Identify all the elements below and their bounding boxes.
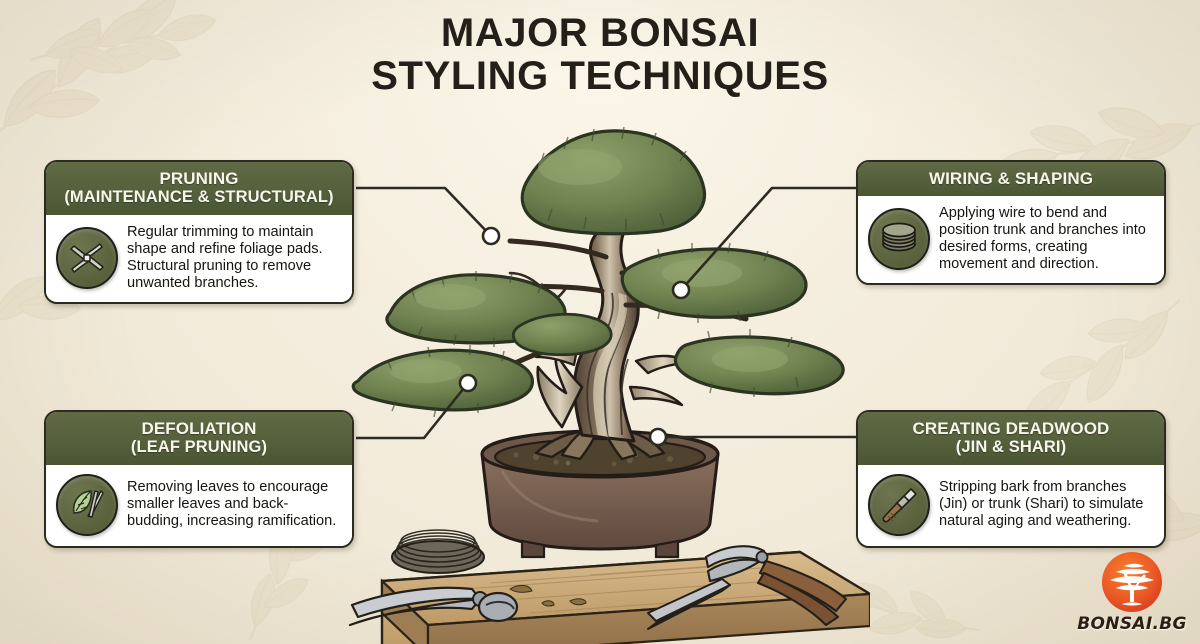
card-deadwood[interactable]: CREATING DEADWOOD (JIN & SHARI) Strippin… <box>856 410 1166 548</box>
card-defoliation[interactable]: DEFOLIATION (LEAF PRUNING) Removing lea <box>44 410 354 548</box>
infographic-canvas: MAJOR BONSAI STYLING TECHNIQUES <box>0 0 1200 644</box>
leaf-tweezers-icon <box>56 474 118 536</box>
card-pruning-text: Regular trimming to maintain shape and r… <box>127 224 342 292</box>
card-defoliation-header: DEFOLIATION (LEAF PRUNING) <box>46 412 352 465</box>
wiring-connector-line <box>681 188 856 290</box>
logo-text: BONSAI.BG <box>1076 614 1188 634</box>
card-wiring-title: WIRING & SHAPING <box>929 169 1093 188</box>
card-wiring-header: WIRING & SHAPING <box>858 162 1164 196</box>
defoliation-connector-dot <box>460 375 476 391</box>
defoliation-connector-line <box>356 383 468 438</box>
card-deadwood-text: Stripping bark from branches (Jin) or tr… <box>939 479 1154 530</box>
bonsai-bg-logo[interactable]: BONSAI.BG <box>1076 550 1188 636</box>
card-defoliation-body: Removing leaves to encourage smaller lea… <box>46 465 352 546</box>
card-wiring-body: Applying wire to bend and position trunk… <box>858 196 1164 283</box>
chisel-icon <box>868 474 930 536</box>
card-defoliation-subtitle: (LEAF PRUNING) <box>54 438 344 457</box>
card-pruning-subtitle: (MAINTENANCE & STRUCTURAL) <box>54 188 344 207</box>
pruning-connector-dot <box>483 228 499 244</box>
card-pruning[interactable]: PRUNING (MAINTENANCE & STRUCTURAL) Regul… <box>44 160 354 304</box>
card-wiring[interactable]: WIRING & SHAPING Applying wire to bend a… <box>856 160 1166 285</box>
card-deadwood-title: CREATING DEADWOOD <box>913 419 1110 438</box>
pruning-connector-line <box>356 188 491 236</box>
card-wiring-text: Applying wire to bend and position trunk… <box>939 205 1154 273</box>
card-pruning-body: Regular trimming to maintain shape and r… <box>46 215 352 302</box>
wire-coil-icon <box>868 208 930 270</box>
deadwood-connector-dot <box>650 429 666 445</box>
card-pruning-header: PRUNING (MAINTENANCE & STRUCTURAL) <box>46 162 352 215</box>
card-deadwood-subtitle: (JIN & SHARI) <box>866 438 1156 457</box>
wiring-connector-dot <box>673 282 689 298</box>
card-defoliation-title: DEFOLIATION <box>141 419 256 438</box>
shears-icon <box>56 227 118 289</box>
card-pruning-title: PRUNING <box>159 169 238 188</box>
card-defoliation-text: Removing leaves to encourage smaller lea… <box>127 479 342 530</box>
card-deadwood-header: CREATING DEADWOOD (JIN & SHARI) <box>858 412 1164 465</box>
card-deadwood-body: Stripping bark from branches (Jin) or tr… <box>858 465 1164 546</box>
